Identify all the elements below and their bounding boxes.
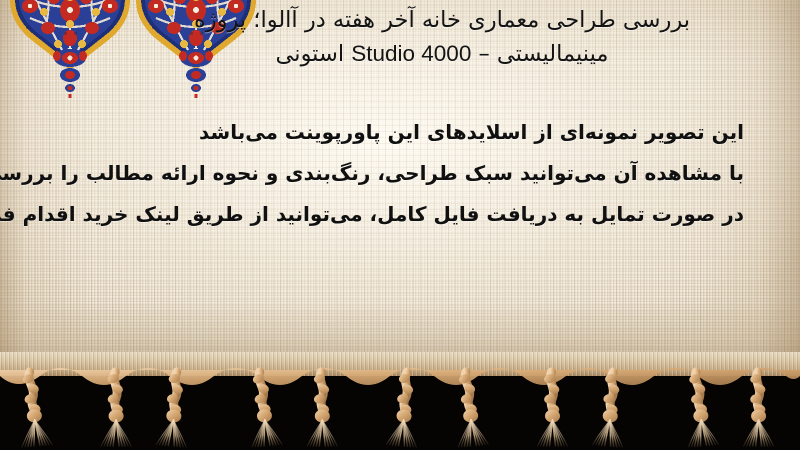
slide-title: بررسی طراحی معماری خانه آخر هفته در آالو… (142, 4, 742, 71)
slide-canvas: بررسی طراحی معماری خانه آخر هفته در آالو… (0, 0, 800, 450)
slide-title-studio-name: Studio 4000 (351, 41, 471, 66)
carpet-tassel-row (0, 352, 800, 450)
slide-body-line-1: این تصویر نمونه‌ای از اسلایدهای این پاور… (44, 112, 744, 153)
slide-text-layer: بررسی طراحی معماری خانه آخر هفته در آالو… (0, 0, 800, 372)
carpet-fringe-band (0, 352, 800, 450)
carpet-tassel (386, 371, 422, 447)
slide-title-line-2: مینیمالیستی – Studio 4000 استونی (142, 37, 742, 71)
carpet-tassel (307, 372, 337, 446)
slide-body-text: این تصویر نمونه‌ای از اسلایدهای این پاور… (44, 112, 744, 235)
slide-title-line-1: بررسی طراحی معماری خانه آخر هفته در آالو… (142, 4, 742, 37)
carpet-tassel (744, 372, 774, 446)
slide-body-line-2: با مشاهده آن می‌توانید سبک طراحی، رنگ‌بن… (44, 153, 744, 194)
slide-title-line-2-suffix: استونی (276, 41, 352, 67)
slide-title-line-2-prefix: مینیمالیستی – (471, 41, 608, 67)
slide-body-line-3: در صورت تمایل به دریافت فایل کامل، می‌تو… (44, 194, 744, 235)
